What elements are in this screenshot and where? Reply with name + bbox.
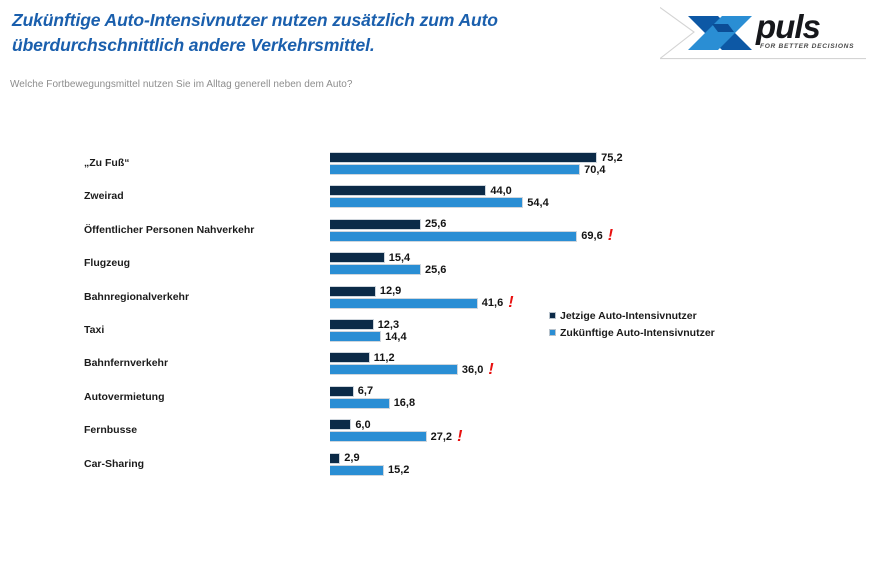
bar-dark: 25,6 [330,219,421,230]
bar-dark: 12,9 [330,286,376,297]
bar-value-label: 75,2 [601,152,622,164]
bar-dark: 44,0 [330,185,486,196]
bar-group: 12,941,6! [330,284,478,309]
bar-group: 15,425,6 [330,250,421,275]
bar-dark: 6,7 [330,386,354,397]
bar-light: 14,4 [330,331,381,342]
bar-value-label: 44,0 [490,185,511,197]
chart-row: Öffentlicher Personen Nahverkehr25,669,6… [0,217,872,250]
bar-value-label: 25,6 [425,264,446,276]
category-label: Zweirad [84,190,324,202]
bar-dark: 12,3 [330,319,374,330]
chart-row: „Zu Fuß“75,270,4 [0,150,872,183]
category-label: Öffentlicher Personen Nahverkehr [84,224,324,236]
category-label: Taxi [84,324,324,336]
bar-dark: 6,0 [330,419,351,430]
bar-value-label: 6,0 [355,419,370,431]
bar-group: 75,270,4 [330,150,597,175]
legend-label: Jetzige Auto-Intensivnutzer [560,310,697,322]
bar-light: 41,6! [330,298,478,309]
bar-value-label: 70,4 [584,164,605,176]
chart-legend: Jetzige Auto-IntensivnutzerZukünftige Au… [549,307,715,341]
bar-light: 25,6 [330,264,421,275]
chart-row: Fernbusse6,027,2! [0,417,872,450]
legend-swatch-icon [549,329,556,336]
legend-label: Zukünftige Auto-Intensivnutzer [560,327,715,339]
title-line-1: Zukünftige Auto-Intensivnutzer nutzen zu… [12,10,498,30]
bar-group: 6,716,8 [330,384,390,409]
bar-light: 15,2 [330,465,384,476]
bar-group: 11,236,0! [330,350,458,375]
bar-dark: 75,2 [330,152,597,163]
chart-row: Flugzeug15,425,6 [0,250,872,283]
slide-page: Zukünftige Auto-Intensivnutzer nutzen zu… [0,0,872,580]
chart-row: Taxi12,314,4 [0,317,872,350]
chart-row: Car-Sharing2,915,2 [0,451,872,484]
slide-header: Zukünftige Auto-Intensivnutzer nutzen zu… [0,0,872,72]
highlight-exclamation-icon: ! [488,361,493,378]
bar-value-label: 25,6 [425,218,446,230]
bar-value-label: 54,4 [527,197,548,209]
category-label: Bahnfernverkehr [84,357,324,369]
bar-light: 54,4 [330,197,523,208]
bar-value-label: 12,9 [380,285,401,297]
highlight-exclamation-icon: ! [457,428,462,445]
bar-value-label: 69,6! [581,227,613,245]
bar-value-label: 27,2! [431,428,463,446]
chart-row: Autovermietung6,716,8 [0,384,872,417]
chart-row: Bahnregionalverkehr12,941,6! [0,284,872,317]
legend-swatch-icon [549,312,556,319]
bar-light: 70,4 [330,164,580,175]
page-subtitle: Welche Fortbewegungsmittel nutzen Sie im… [10,79,353,90]
bar-value-label: 12,3 [378,319,399,331]
category-label: Car-Sharing [84,458,324,470]
brand-logo: puls FOR BETTER DECISIONS [660,2,866,64]
category-label: Flugzeug [84,257,324,269]
title-line-2: überdurchschnittlich andere Verkehrsmitt… [12,33,652,58]
bar-dark: 15,4 [330,252,385,263]
bar-value-label: 41,6! [482,294,514,312]
category-label: „Zu Fuß“ [84,157,324,169]
bar-value-label: 2,9 [344,452,359,464]
bar-light: 36,0! [330,364,458,375]
bar-value-label: 14,4 [385,331,406,343]
bar-group: 25,669,6! [330,217,577,242]
bar-value-label: 36,0! [462,361,494,379]
bar-light: 27,2! [330,431,427,442]
bar-group: 12,314,4 [330,317,381,342]
bar-group: 6,027,2! [330,417,427,442]
bar-light: 16,8 [330,398,390,409]
category-label: Fernbusse [84,424,324,436]
bar-dark: 11,2 [330,352,370,363]
bar-value-label: 15,2 [388,464,409,476]
bar-value-label: 15,4 [389,252,410,264]
bar-value-label: 16,8 [394,397,415,409]
bar-value-label: 11,2 [374,352,395,364]
logo-tagline: FOR BETTER DECISIONS [760,43,854,50]
chart-row: Zweirad44,054,4 [0,183,872,216]
page-title: Zukünftige Auto-Intensivnutzer nutzen zu… [12,8,652,58]
bar-dark: 2,9 [330,453,340,464]
highlight-exclamation-icon: ! [608,227,613,244]
bar-chart: „Zu Fuß“75,270,4Zweirad44,054,4Öffentlic… [0,150,872,510]
chart-row: Bahnfernverkehr11,236,0! [0,350,872,383]
legend-item-jetzige[interactable]: Jetzige Auto-Intensivnutzer [549,307,715,324]
highlight-exclamation-icon: ! [508,294,513,311]
bar-light: 69,6! [330,231,577,242]
category-label: Bahnregionalverkehr [84,291,324,303]
logo-wordmark: puls [756,10,820,43]
bar-group: 44,054,4 [330,183,523,208]
category-label: Autovermietung [84,391,324,403]
bar-value-label: 6,7 [358,385,373,397]
legend-item-zukuenftige[interactable]: Zukünftige Auto-Intensivnutzer [549,324,715,341]
bar-group: 2,915,2 [330,451,384,476]
